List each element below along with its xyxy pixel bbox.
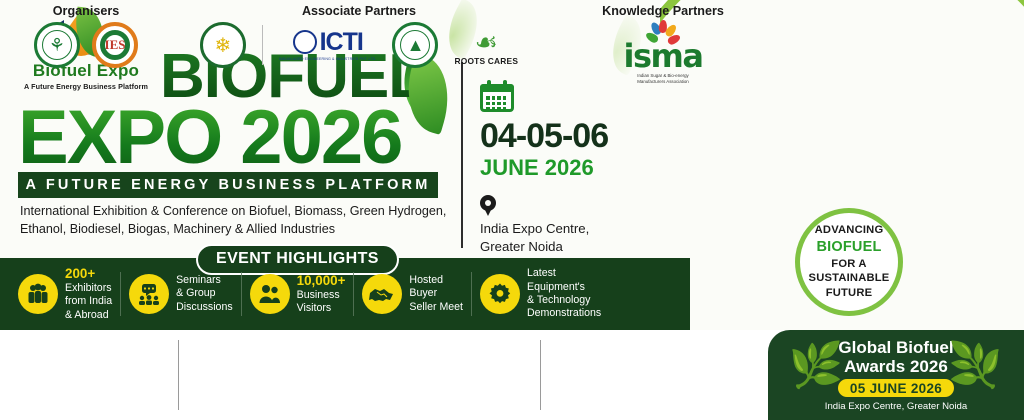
knowledge-partners-heading: Knowledge Partners <box>556 4 770 18</box>
highlight-item: Latest Equipment's & Technology Demonstr… <box>472 267 609 320</box>
highlight-item: Seminars & Group Discussions <box>121 274 241 314</box>
divider <box>241 272 242 316</box>
event-date-block: 04-05-06 JUNE 2026 India Expo Centre, Gr… <box>480 80 650 275</box>
badge-line2: FOR A <box>831 258 866 270</box>
roots-cares-text: ROOTS CARES <box>454 56 518 66</box>
platform-band-text: A FUTURE ENERGY BUSINESS PLATFORM <box>25 177 430 193</box>
icti-subtitle: INDIAN AGRO ENGINEERING & INDUSTRIES PVT… <box>279 57 377 61</box>
highlight-lines: Latest Equipment's & Technology Demonstr… <box>527 267 601 319</box>
advancing-biofuel-badge: ADVANCING BIOFUEL FOR A SUSTAINABLE FUTU… <box>795 208 903 316</box>
isma-wordmark: isma <box>624 42 703 71</box>
highlight-text: Hosted Buyer Seller Meet <box>409 274 463 314</box>
highlight-number: 200+ <box>65 266 112 282</box>
organisers-heading: Organisers <box>12 4 160 18</box>
isma-logo[interactable]: isma Indian Sugar & Bio-energy Manufactu… <box>624 22 703 85</box>
calendar-icon <box>480 80 514 112</box>
badge-line4: FUTURE <box>826 287 873 299</box>
highlight-text: 200+ Exhibitors from India & Abroad <box>65 266 112 322</box>
highlight-text: Latest Equipment's & Technology Demonstr… <box>527 267 601 320</box>
green-tree-seal-logo[interactable]: ▲ <box>392 22 438 68</box>
icti-seal-icon <box>293 30 317 54</box>
laurel-wreath-icon: 🌿 <box>789 344 844 388</box>
event-dates: 04-05-06 <box>480 119 650 153</box>
highlight-item: 200+ Exhibitors from India & Abroad <box>10 266 120 322</box>
highlight-number: 10,000+ <box>297 273 346 289</box>
icti-logo[interactable]: ICTI INDIAN AGRO ENGINEERING & INDUSTRIE… <box>279 30 377 61</box>
biofuel-expo-banner: Biofuel Expo A Future Energy Business Pl… <box>0 0 1024 420</box>
divider <box>471 272 472 316</box>
handshake-icon <box>362 274 402 314</box>
knowledge-partners-column: Knowledge Partners isma Indian Sugar & B… <box>556 4 770 85</box>
seminar-presentation-icon <box>129 274 169 314</box>
highlight-lines: Business Visitors <box>297 289 340 314</box>
divider <box>540 340 541 410</box>
visitors-people-icon <box>250 274 290 314</box>
highlight-item: 10,000+ Business Visitors <box>242 273 354 316</box>
highlight-lines: Seminars & Group Discussions <box>176 274 233 313</box>
sustainable-energy-seal-logo[interactable]: ⚘ <box>34 22 80 68</box>
highlight-text: 10,000+ Business Visitors <box>297 273 346 316</box>
hero-title-line2: EXPO 2026 <box>18 100 401 176</box>
isma-petals-icon <box>646 22 680 44</box>
icti-wordmark: ICTI <box>320 30 363 55</box>
hero-subtitle: International Exhibition & Conference on… <box>20 203 450 239</box>
tree-icon: ☙ <box>466 25 506 55</box>
ies-seal-logo[interactable]: IES <box>92 22 138 68</box>
highlight-lines: Hosted Buyer Seller Meet <box>409 274 463 313</box>
badge-highlight: BIOFUEL <box>809 238 890 257</box>
highlight-text: Seminars & Group Discussions <box>176 274 233 314</box>
platform-band: A FUTURE ENERGY BUSINESS PLATFORM <box>18 172 438 198</box>
roots-cares-logo[interactable]: ☙ ROOTS CARES <box>454 25 518 66</box>
divider <box>178 340 179 410</box>
event-month-year: JUNE 2026 <box>480 155 650 181</box>
awards-venue: India Expo Centre, Greater Noida <box>825 401 967 412</box>
highlight-lines: Exhibitors from India & Abroad <box>65 282 112 321</box>
badge-line1: ADVANCING <box>815 224 884 236</box>
agriculture-seal-logo[interactable]: ❄ <box>200 22 246 68</box>
ies-seal-text: IES <box>96 26 134 64</box>
event-highlights-items: 200+ Exhibitors from India & Abroad Semi… <box>10 266 670 322</box>
laurel-wreath-icon: 🌿 <box>948 344 1003 388</box>
global-biofuel-awards-panel: 🌿 🌿 Global Biofuel Awards 2026 05 JUNE 2… <box>768 330 1024 420</box>
logo-tagline: A Future Energy Business Platform <box>22 82 150 91</box>
gear-cog-icon <box>480 274 520 314</box>
organisers-column: Organisers ⚘ IES <box>12 4 160 68</box>
partners-footer <box>0 330 800 420</box>
associate-partners-heading: Associate Partners <box>196 4 522 18</box>
badge-line3: SUSTAINABLE <box>809 272 890 284</box>
vertical-divider <box>461 62 463 248</box>
awards-title: Global Biofuel Awards 2026 <box>825 338 967 376</box>
exhibitors-group-icon <box>18 274 58 314</box>
location-pin-icon <box>480 195 496 217</box>
awards-date: 05 JUNE 2026 <box>838 379 954 397</box>
divider <box>353 272 354 316</box>
isma-subtitle: Indian Sugar & Bio-energy Manufacturers … <box>637 73 689 85</box>
associate-partners-column: Associate Partners ❄ ICTI INDIAN AGRO EN… <box>196 4 522 68</box>
divider <box>120 272 121 316</box>
highlight-item: Hosted Buyer Seller Meet <box>354 274 471 314</box>
